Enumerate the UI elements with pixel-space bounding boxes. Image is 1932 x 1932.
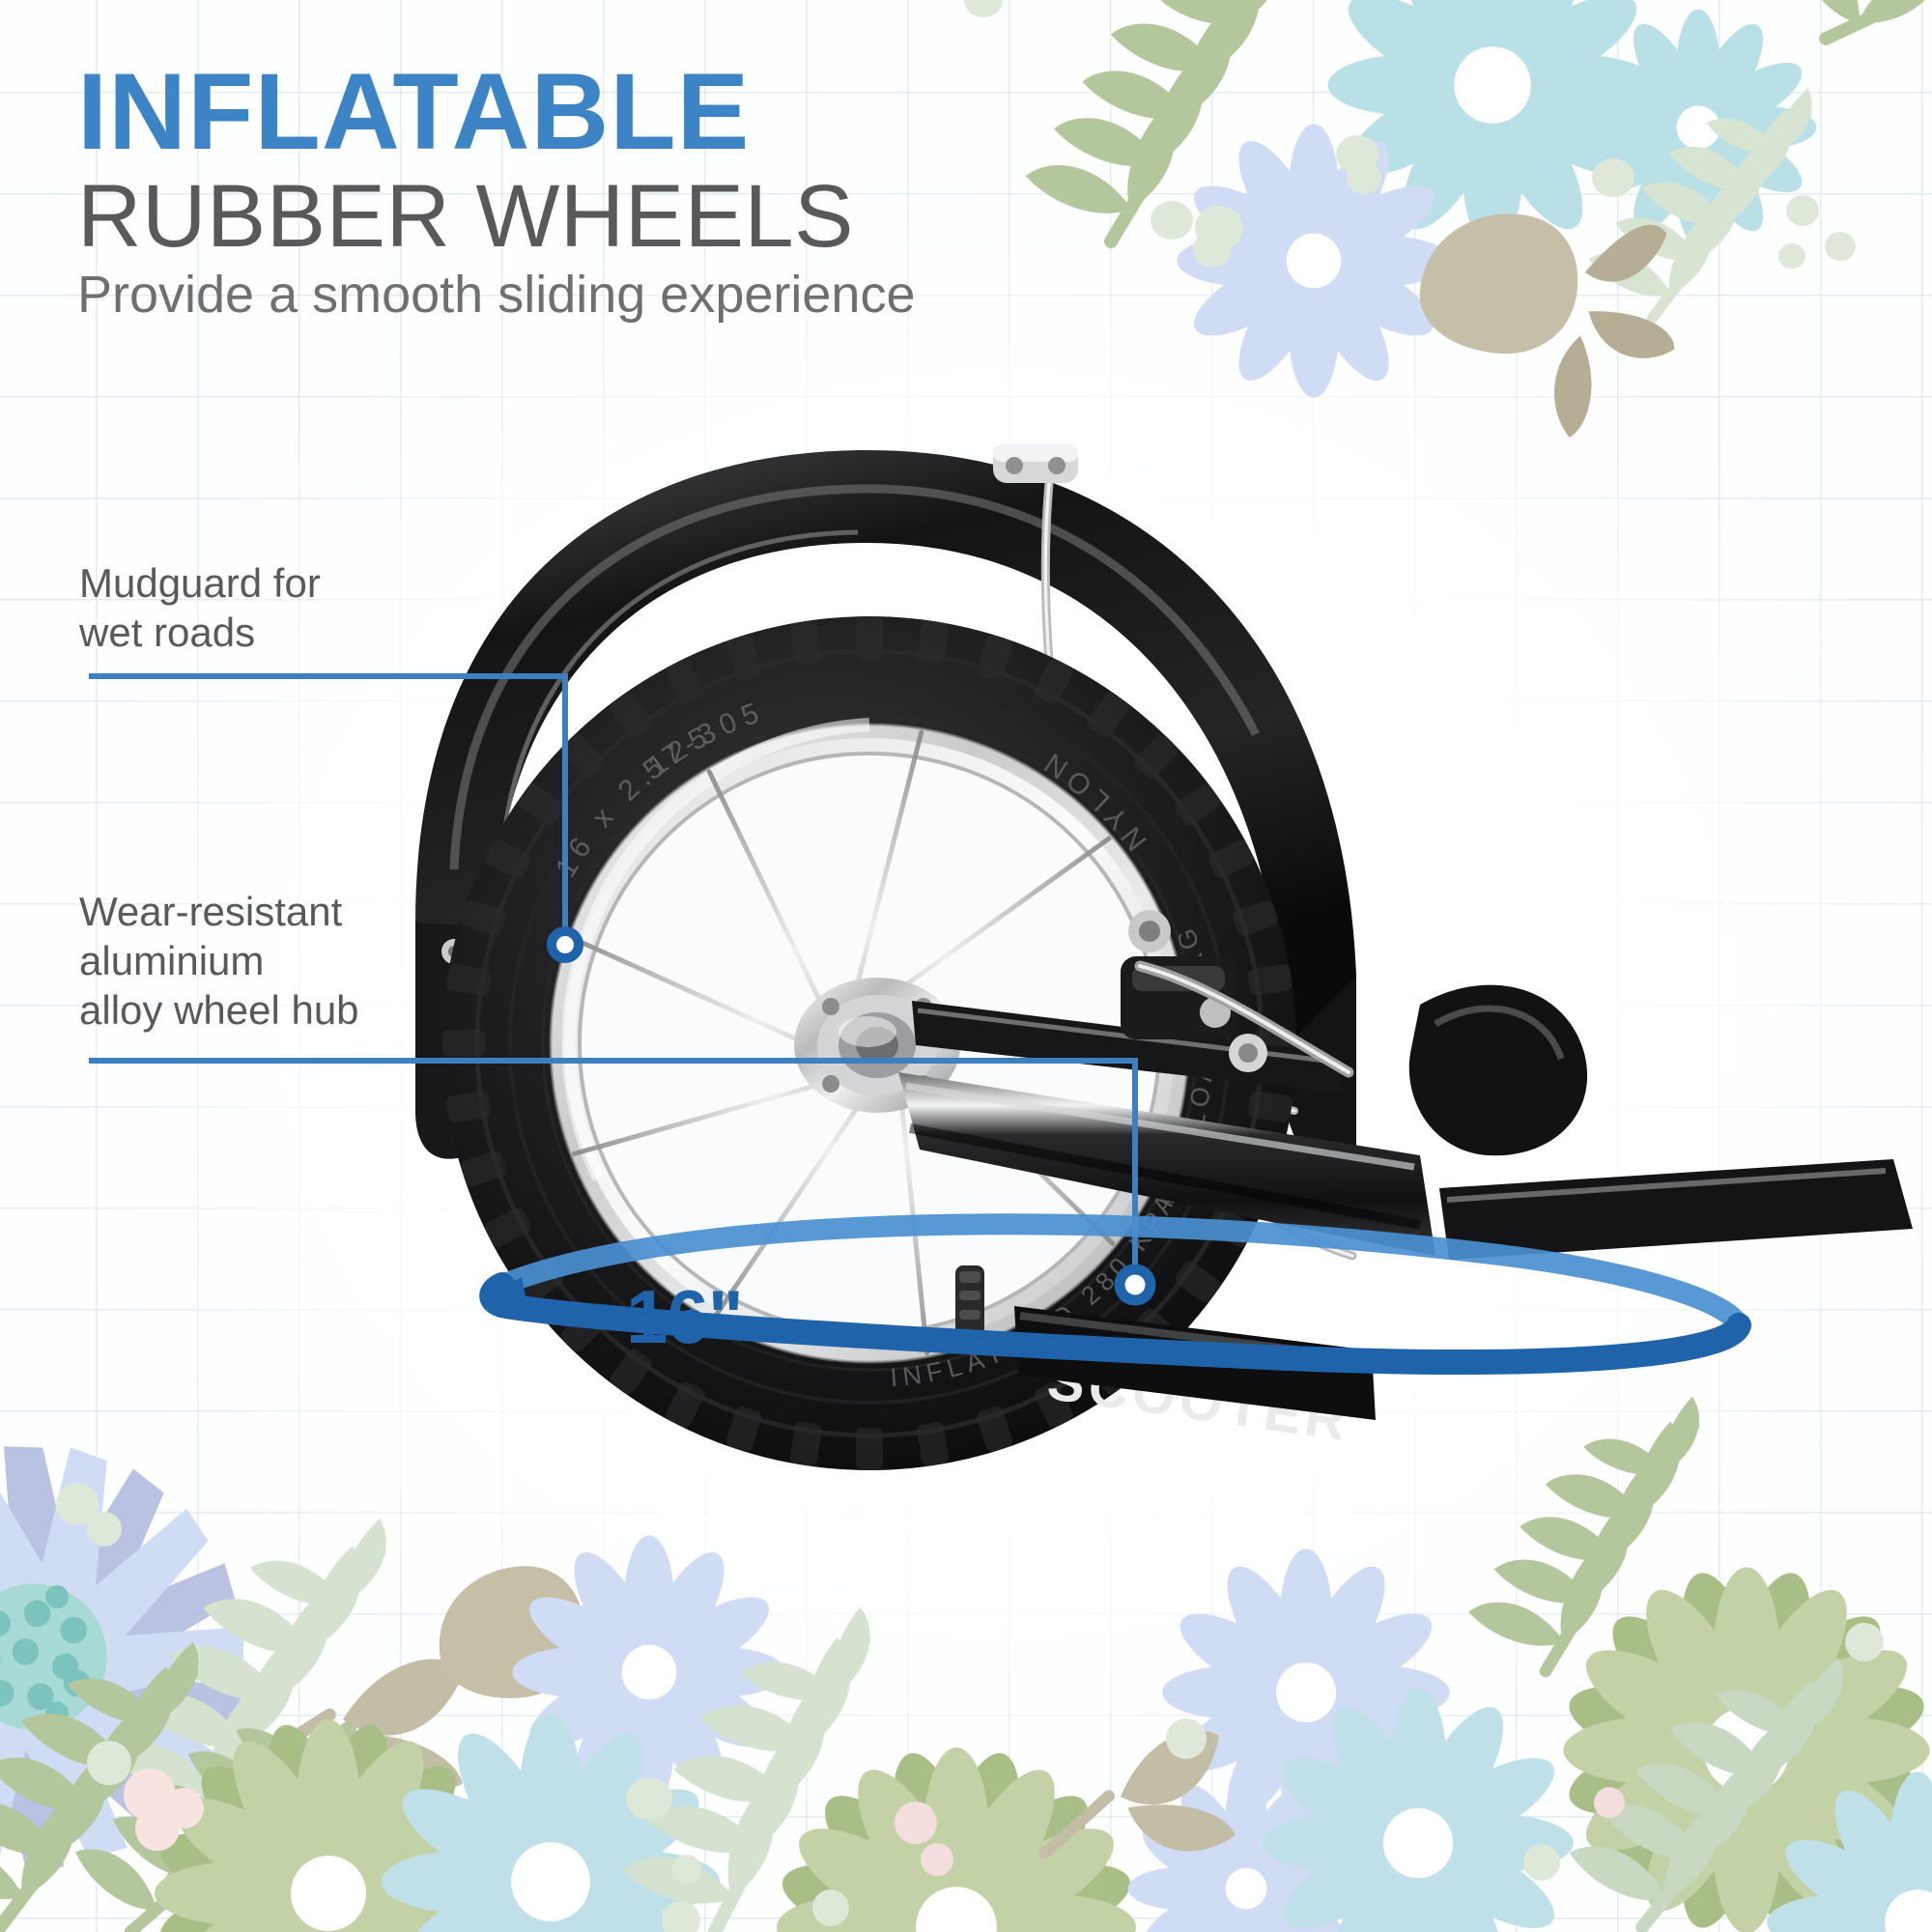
dimension-label-16in: 16" — [626, 1273, 743, 1361]
callout-mudguard: Mudguard for wet roads — [79, 558, 321, 657]
page-title-primary: INFLATABLE — [77, 58, 750, 166]
page-subtitle: Provide a smooth sliding experience — [77, 263, 915, 328]
callout-wheel-hub-line3: alloy wheel hub — [79, 985, 359, 1035]
callout-mudguard-line2: wet roads — [79, 608, 321, 657]
callout-mudguard-line1: Mudguard for — [79, 558, 321, 608]
infographic-canvas: INFLATE TO 280 KPA MAX LOAD 50 KG 16 x 2… — [0, 0, 1932, 1932]
callout-wheel-hub-line2: aluminium — [79, 936, 359, 985]
page-title-secondary: RUBBER WHEELS — [77, 172, 854, 261]
callout-wheel-hub-line1: Wear-resistant — [79, 887, 359, 936]
text-layer: INFLATABLE RUBBER WHEELS Provide a smoot… — [0, 0, 1932, 1932]
callout-wheel-hub: Wear-resistant aluminium alloy wheel hub — [79, 887, 359, 1036]
